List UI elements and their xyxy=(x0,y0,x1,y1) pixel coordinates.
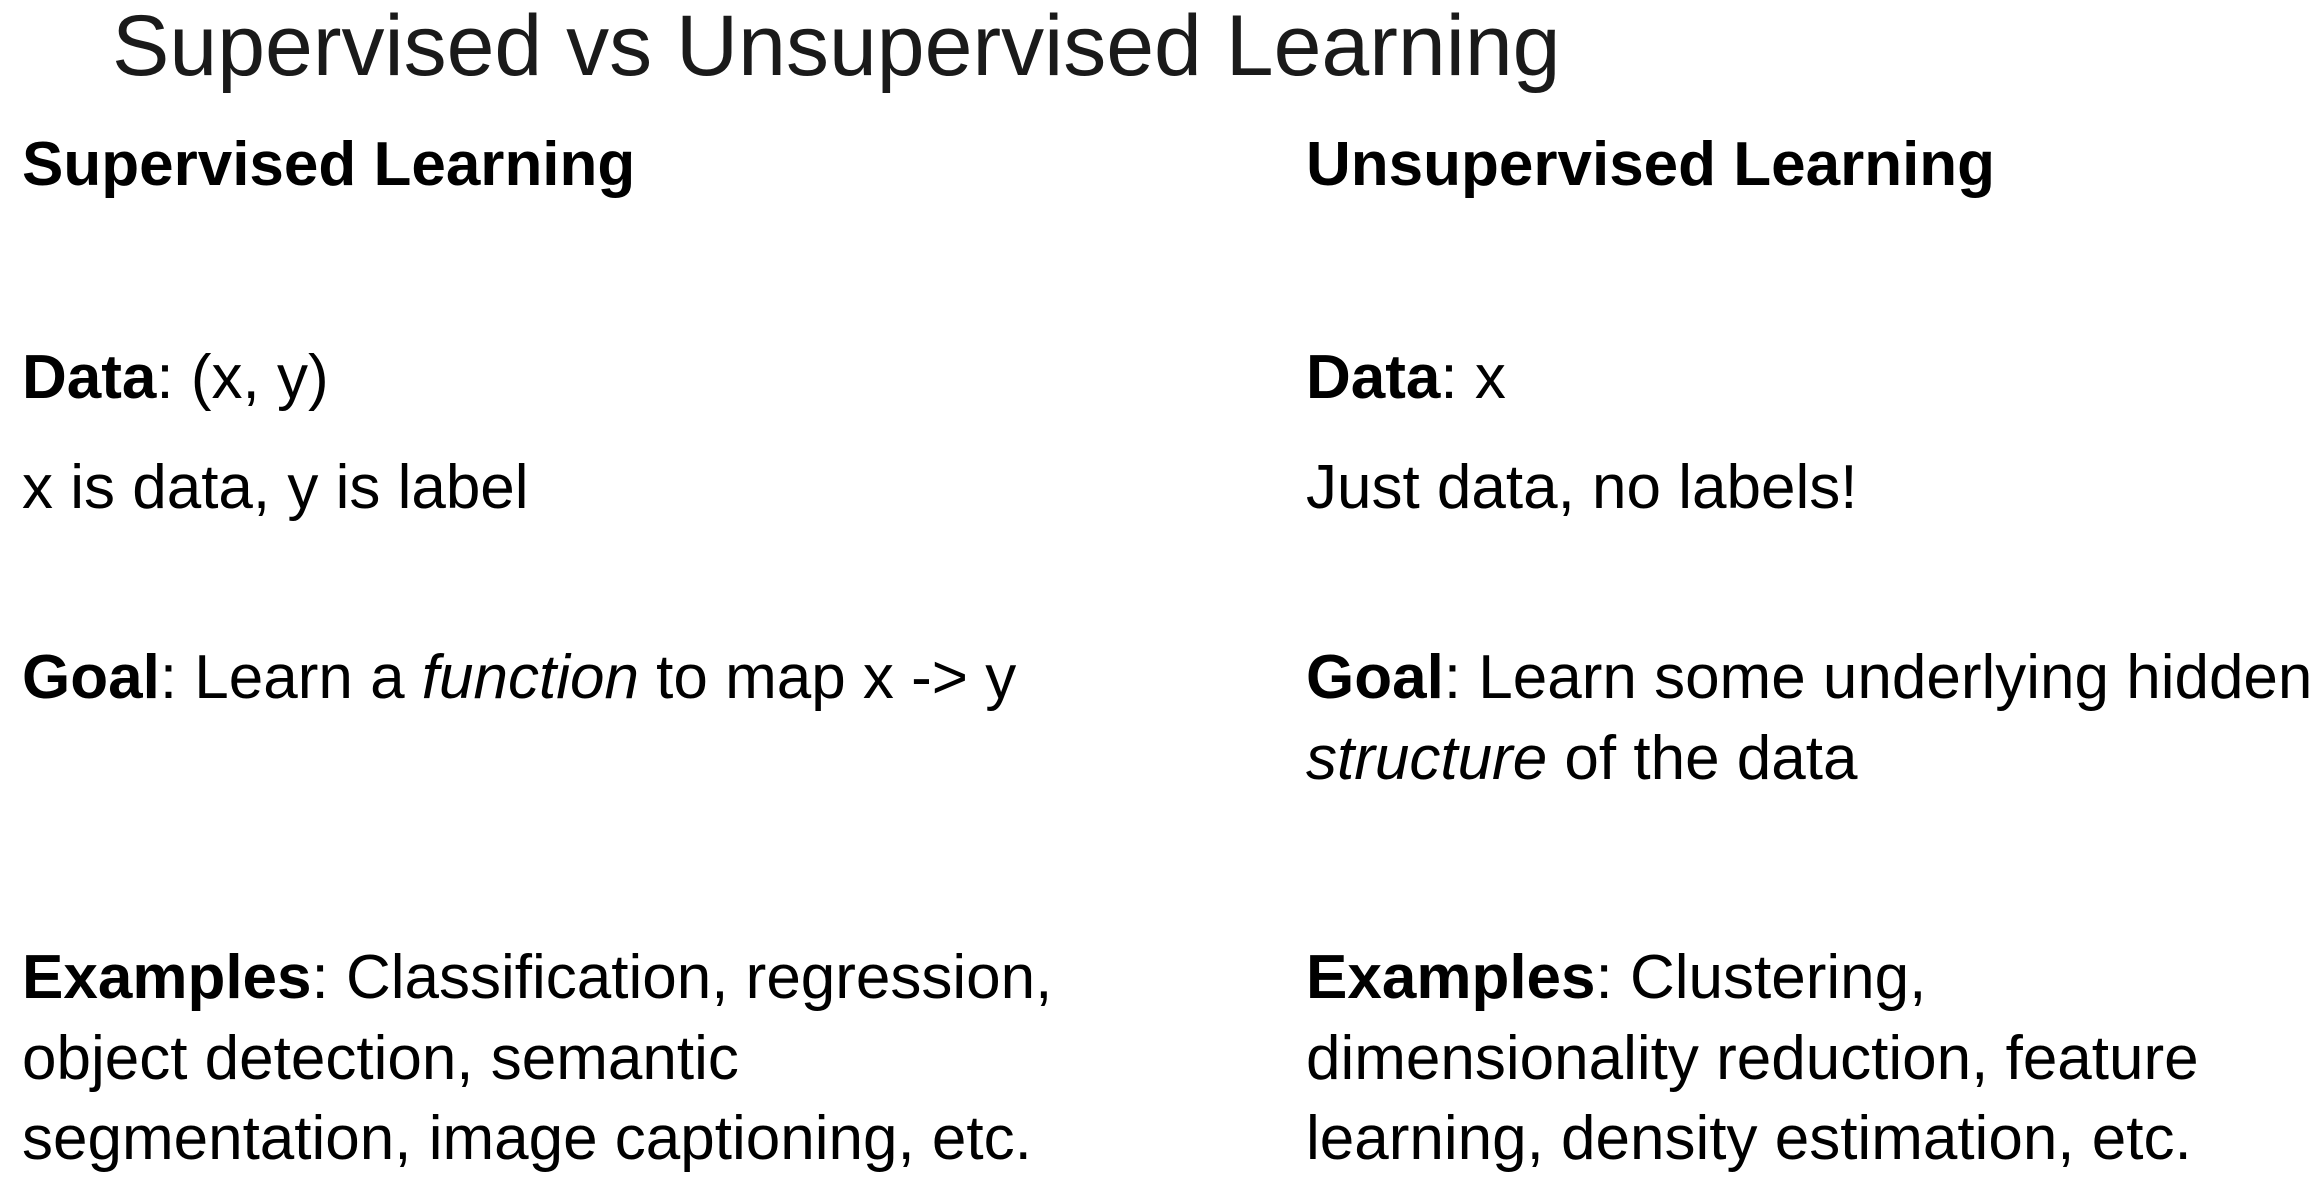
supervised-examples-line-2: object detection, semantic xyxy=(22,1019,1282,1100)
supervised-goal-row: Goal: Learn a function to map x -> y xyxy=(22,638,1282,719)
column-supervised: Supervised Learning Data: (x, y) x is da… xyxy=(22,128,1282,201)
unsupervised-data-value: x xyxy=(1475,343,1506,412)
supervised-goal-label: Goal xyxy=(22,643,160,712)
supervised-data-separator: : xyxy=(156,343,190,412)
unsupervised-goal-row: Goal: Learn some underlying hidden struc… xyxy=(1306,638,2320,799)
unsupervised-goal-text-before: Learn some underlying hidden xyxy=(1478,643,2312,712)
supervised-data-note: x is data, y is label xyxy=(22,448,1282,529)
supervised-goal-separator: : xyxy=(160,643,194,712)
supervised-examples-line-1: Classification, regression, xyxy=(346,943,1052,1012)
supervised-goal-text-after: to map x -> y xyxy=(639,643,1016,712)
unsupervised-examples-line-3: learning, density estimation, etc. xyxy=(1306,1099,2320,1180)
unsupervised-data-note-text: Just data, no labels! xyxy=(1306,448,2320,529)
unsupervised-goal-text-after: of the data xyxy=(1547,724,1857,793)
unsupervised-examples-label: Examples xyxy=(1306,943,1596,1012)
unsupervised-data-note: Just data, no labels! xyxy=(1306,448,2320,529)
supervised-examples-label: Examples xyxy=(22,943,312,1012)
unsupervised-examples-row: Examples: Clustering, dimensionality red… xyxy=(1306,938,2320,1180)
unsupervised-data-separator: : xyxy=(1440,343,1474,412)
supervised-goal-text-before: Learn a xyxy=(194,643,422,712)
supervised-data-label: Data xyxy=(22,343,156,412)
supervised-examples-line-3: segmentation, image captioning, etc. xyxy=(22,1099,1282,1180)
unsupervised-examples-line-2: dimensionality reduction, feature xyxy=(1306,1019,2320,1100)
supervised-examples-separator: : xyxy=(312,943,346,1012)
unsupervised-examples-line-1: Clustering, xyxy=(1630,943,1926,1012)
column-heading-unsupervised: Unsupervised Learning xyxy=(1306,128,2320,201)
unsupervised-data-label: Data xyxy=(1306,343,1440,412)
unsupervised-goal-separator: : xyxy=(1444,643,1478,712)
supervised-data-row: Data: (x, y) xyxy=(22,338,1282,419)
column-heading-supervised: Supervised Learning xyxy=(22,128,1282,201)
comparison-columns: Supervised Learning Data: (x, y) x is da… xyxy=(0,128,2320,1192)
column-unsupervised: Unsupervised Learning Data: x Just data,… xyxy=(1306,128,2320,201)
slide-canvas: Supervised vs Unsupervised Learning Supe… xyxy=(0,0,2320,1192)
supervised-examples-row: Examples: Classification, regression, ob… xyxy=(22,938,1282,1180)
unsupervised-goal-label: Goal xyxy=(1306,643,1444,712)
unsupervised-data-row: Data: x xyxy=(1306,338,2320,419)
unsupervised-goal-emphasis: structure xyxy=(1306,724,1547,793)
page-title: Supervised vs Unsupervised Learning xyxy=(112,0,1560,97)
unsupervised-examples-separator: : xyxy=(1596,943,1630,1012)
supervised-data-note-text: x is data, y is label xyxy=(22,448,1282,529)
supervised-goal-emphasis: function xyxy=(422,643,639,712)
supervised-data-value: (x, y) xyxy=(191,343,329,412)
